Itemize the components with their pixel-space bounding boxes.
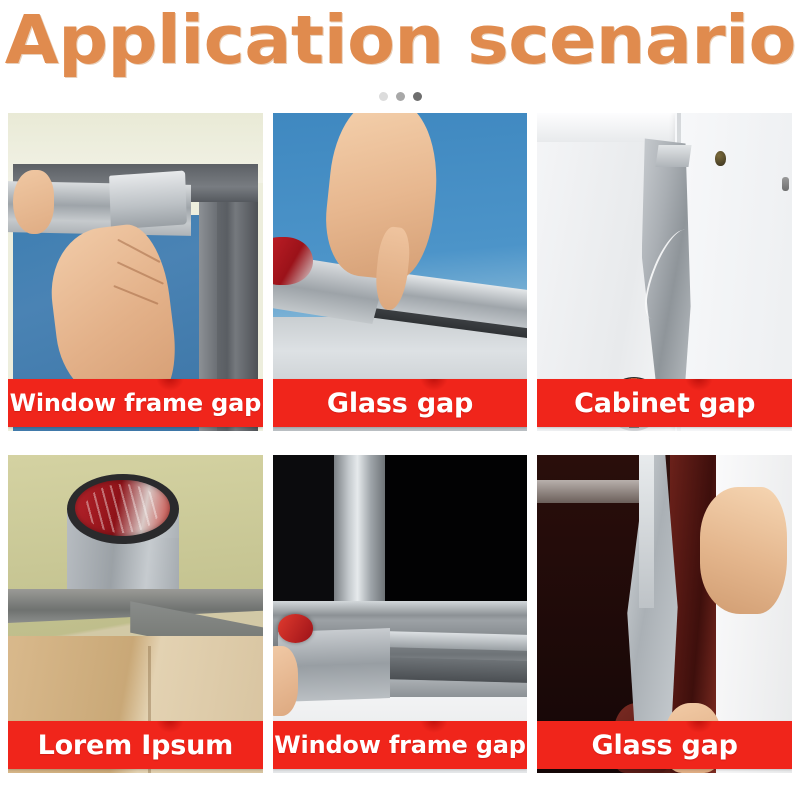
panel-label: Window frame gap <box>10 389 261 417</box>
panel-label: Glass gap <box>327 388 473 419</box>
page-title-container: Application scenario <box>0 4 800 76</box>
panel-label-bar: Window frame gap <box>8 379 263 427</box>
panel-label: Cabinet gap <box>574 388 755 419</box>
panel-label: Window frame gap <box>274 731 525 759</box>
panel-glass-gap-1[interactable]: Glass gap <box>273 113 528 431</box>
carousel-dot-1[interactable] <box>379 92 388 101</box>
page-title: Application scenario <box>4 7 795 74</box>
panel-label-bar: Lorem Ipsum <box>8 721 263 769</box>
scenario-grid: Window frame gap Glass gap <box>8 113 792 773</box>
application-scenario-page: Application scenario <box>0 0 800 800</box>
panel-glass-gap-2[interactable]: Glass gap <box>537 455 792 773</box>
carousel-dot-2[interactable] <box>396 92 405 101</box>
panel-label: Glass gap <box>592 730 738 761</box>
carousel-dot-3[interactable] <box>413 92 422 101</box>
panel-lorem-ipsum[interactable]: Lorem Ipsum <box>8 455 263 773</box>
panel-window-frame-gap-2[interactable]: Window frame gap <box>273 455 528 773</box>
panel-window-frame-gap-1[interactable]: Window frame gap <box>8 113 263 431</box>
panel-label-bar: Window frame gap <box>273 721 528 769</box>
panel-label-bar: Glass gap <box>537 721 792 769</box>
panel-cabinet-gap[interactable]: Cabinet gap <box>537 113 792 431</box>
panel-label-bar: Cabinet gap <box>537 379 792 427</box>
carousel-dots <box>0 88 800 104</box>
panel-label: Lorem Ipsum <box>38 730 234 761</box>
panel-label-bar: Glass gap <box>273 379 528 427</box>
